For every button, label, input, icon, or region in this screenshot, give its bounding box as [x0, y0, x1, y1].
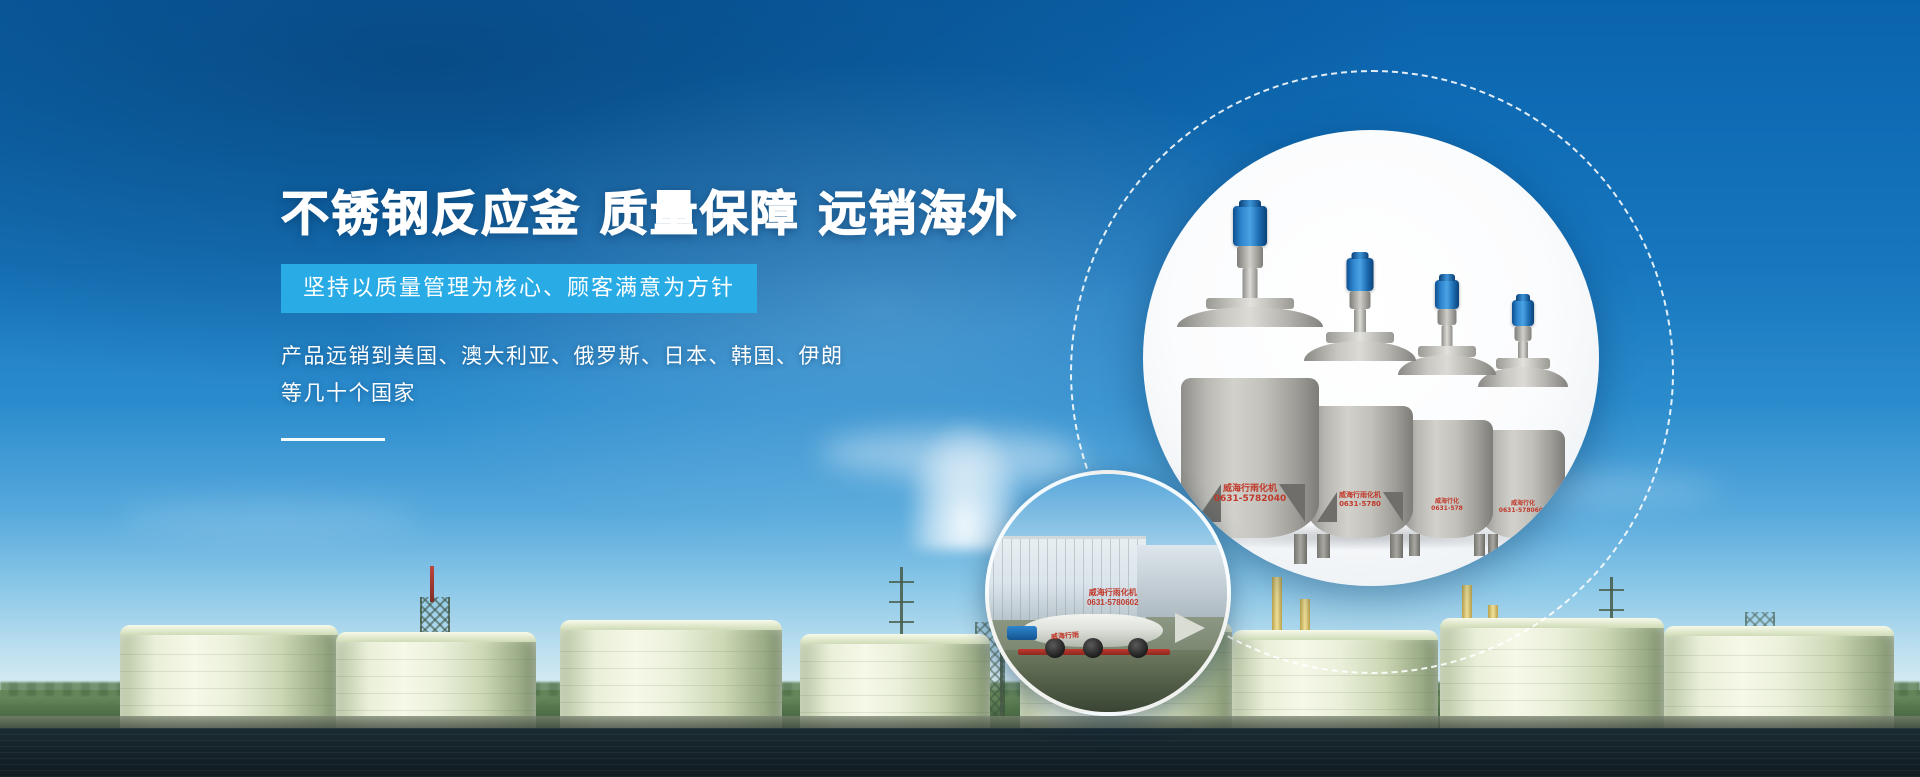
storage-tank — [1664, 626, 1894, 730]
gearbox — [1438, 309, 1457, 325]
gearbox — [1350, 291, 1371, 309]
transport-truck — [1010, 603, 1200, 665]
description-line-2: 等几十个国家 — [281, 376, 981, 413]
vessel-label: 威海行雨化机 0631-5780602 — [1087, 588, 1139, 607]
vessel-leg — [1390, 534, 1403, 558]
gearbox — [1515, 326, 1532, 341]
subtitle-highlight-bar: 坚持以质量管理为核心、顾客满意为方针 — [281, 264, 757, 313]
storage-tank — [120, 625, 338, 730]
vessel-body: 威海行化 0631-5780602 — [1481, 430, 1565, 538]
drive-motor — [1007, 626, 1037, 640]
agitator-motor — [1233, 206, 1267, 246]
truck-wheel — [1083, 638, 1103, 658]
support-bracket — [1317, 492, 1337, 522]
vessel-label: 威海行化 0631-5780602 — [1499, 498, 1547, 514]
reactor-vessel: 威海行雨化机 0631-5780 — [1307, 352, 1413, 538]
promo-banner: 威海行雨化机 0631-5782040 威海行雨化机 0631-5780 — [0, 0, 1920, 777]
gearbox — [1237, 246, 1263, 268]
tower-arm — [1599, 589, 1624, 591]
vessel-body: 威海行雨化机 0631-5780 — [1307, 406, 1413, 538]
description-line-1: 产品远销到美国、澳大利亚、俄罗斯、日本、韩国、伊朗 — [281, 339, 981, 376]
tower-arm — [889, 581, 914, 583]
tower-arm — [889, 621, 914, 623]
divider-rule — [281, 438, 385, 441]
banner-copy: 不锈钢反应釜 质量保障 远销海外 坚持以质量管理为核心、顾客满意为方针 产品远销… — [281, 188, 981, 441]
cloud-wisp — [120, 500, 420, 536]
reactor-vessel: 威海行化 0631-578 — [1401, 366, 1493, 538]
agitator-motor — [1435, 280, 1459, 309]
truck-wheel — [1128, 638, 1148, 658]
secondary-photo-circle: 威海行雨化机 0631-5780602 威海行雨 — [985, 470, 1231, 716]
antenna-mast — [430, 566, 434, 602]
vessel-leg — [1294, 534, 1307, 564]
vessel-label: 威海行雨化机 0631-5780 — [1339, 490, 1381, 508]
vessel-side-label: 威海行雨 — [1051, 630, 1080, 642]
water — [0, 728, 1920, 777]
storage-tank — [560, 620, 782, 730]
agitator-motor — [1512, 300, 1534, 326]
tower-arm — [889, 601, 914, 603]
vessel-label: 威海行化 0631-578 — [1431, 496, 1463, 512]
agitator-motor — [1347, 258, 1374, 291]
headline: 不锈钢反应釜 质量保障 远销海外 — [281, 188, 981, 242]
vessel-body: 威海行化 0631-578 — [1401, 420, 1493, 538]
vessel-shoulder — [1304, 341, 1416, 361]
description-text: 产品远销到美国、澳大利亚、俄罗斯、日本、韩国、伊朗 等几十个国家 — [281, 339, 981, 413]
support-bracket — [1383, 492, 1403, 522]
drive-shaft — [1243, 268, 1258, 302]
vessel-leg — [1548, 534, 1558, 554]
vessel-leg — [1474, 534, 1485, 556]
vessel-cone-end — [1175, 613, 1205, 643]
tower-arm — [1599, 609, 1624, 611]
reactor-vessel: 威海行化 0631-5780602 — [1481, 378, 1565, 538]
vessel-shoulder — [1177, 307, 1323, 327]
